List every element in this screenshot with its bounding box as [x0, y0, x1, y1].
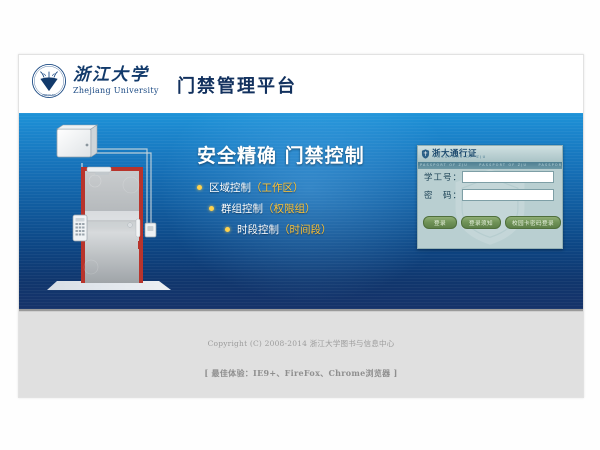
ribbon-text: PASSPORT OF ZJU	[420, 163, 468, 167]
feature-label: 群组控制	[221, 201, 263, 216]
login-panel-ribbon: PASSPORT OF ZJU PASSPORT OF ZJU PASSPORT…	[418, 162, 562, 169]
login-panel: 浙大通行证 PASSPORT OF ZJU PASSPORT OF ZJU PA…	[417, 145, 563, 249]
login-notice-button[interactable]: 登录须知	[461, 216, 501, 229]
feature-item-group-control: 群组控制 （权限组）	[197, 201, 412, 216]
feature-label: 区域控制	[209, 180, 251, 195]
browser-support-text: [ 最佳体验：IE9+、FireFox、Chrome浏览器 ]	[19, 368, 583, 379]
site-header: ZHEJIANG 浙江大学 Zhejiang University 门禁管理平台	[19, 55, 583, 113]
shield-icon	[421, 149, 430, 159]
feature-paren: （工作区）	[251, 180, 304, 195]
login-form: 学工号： 密 码：	[418, 171, 562, 207]
password-input[interactable]	[462, 189, 554, 201]
screenshot-root: ZHEJIANG 浙江大学 Zhejiang University 门禁管理平台	[0, 0, 600, 450]
login-panel-subtitle: PASSPORT OF ZJU	[434, 156, 487, 160]
logo-text: 浙江大学 Zhejiang University	[73, 67, 159, 95]
ribbon-text: PASSPORT OF ZJU	[538, 163, 562, 167]
copyright-text: Copyright (C) 2008-2014 浙江大学图书与信息中心	[19, 338, 583, 349]
login-button[interactable]: 登录	[423, 216, 457, 229]
feature-label: 时段控制	[237, 222, 279, 237]
form-row-password: 密 码：	[418, 189, 562, 201]
login-button-group: 登录 登录须知 校园卡密码登录	[418, 216, 562, 229]
zju-seal-icon: ZHEJIANG	[31, 63, 67, 99]
logo-name-en: Zhejiang University	[73, 87, 159, 95]
campus-card-login-button[interactable]: 校园卡密码登录	[505, 216, 561, 229]
slogan-headline: 安全精确 门禁控制	[197, 141, 412, 168]
site-footer: Copyright (C) 2008-2014 浙江大学图书与信息中心 [ 最佳…	[19, 311, 583, 398]
access-control-door-illustration	[39, 123, 179, 305]
svg-text:ZHEJIANG: ZHEJIANG	[42, 94, 56, 97]
feature-item-area-control: 区域控制 （工作区）	[197, 180, 412, 195]
form-row-userid: 学工号：	[418, 171, 562, 183]
logo-name-cn: 浙江大学	[73, 67, 159, 84]
bullet-dot-icon	[225, 227, 230, 232]
feature-paren: （权限组）	[263, 201, 316, 216]
password-label: 密 码：	[424, 189, 462, 201]
feature-item-time-control: 时段控制 （时间段）	[197, 222, 412, 237]
page-title: 门禁管理平台	[177, 72, 297, 98]
bullet-dot-icon	[197, 185, 202, 190]
page-frame: ZHEJIANG 浙江大学 Zhejiang University 门禁管理平台	[18, 54, 584, 398]
ribbon-text: PASSPORT OF ZJU	[479, 163, 527, 167]
university-logo[interactable]: ZHEJIANG 浙江大学 Zhejiang University	[31, 63, 159, 99]
feature-list: 区域控制 （工作区） 群组控制 （权限组） 时段控制 （时间段）	[197, 180, 412, 237]
hero-banner: 安全精确 门禁控制 区域控制 （工作区） 群组控制 （权限组） 时段控制	[19, 113, 583, 309]
slogan-block: 安全精确 门禁控制 区域控制 （工作区） 群组控制 （权限组） 时段控制	[197, 141, 412, 243]
userid-label: 学工号：	[424, 171, 462, 183]
userid-input[interactable]	[462, 171, 554, 183]
login-panel-header: 浙大通行证 PASSPORT OF ZJU	[418, 146, 562, 162]
feature-paren: （时间段）	[279, 222, 332, 237]
bullet-dot-icon	[209, 206, 214, 211]
